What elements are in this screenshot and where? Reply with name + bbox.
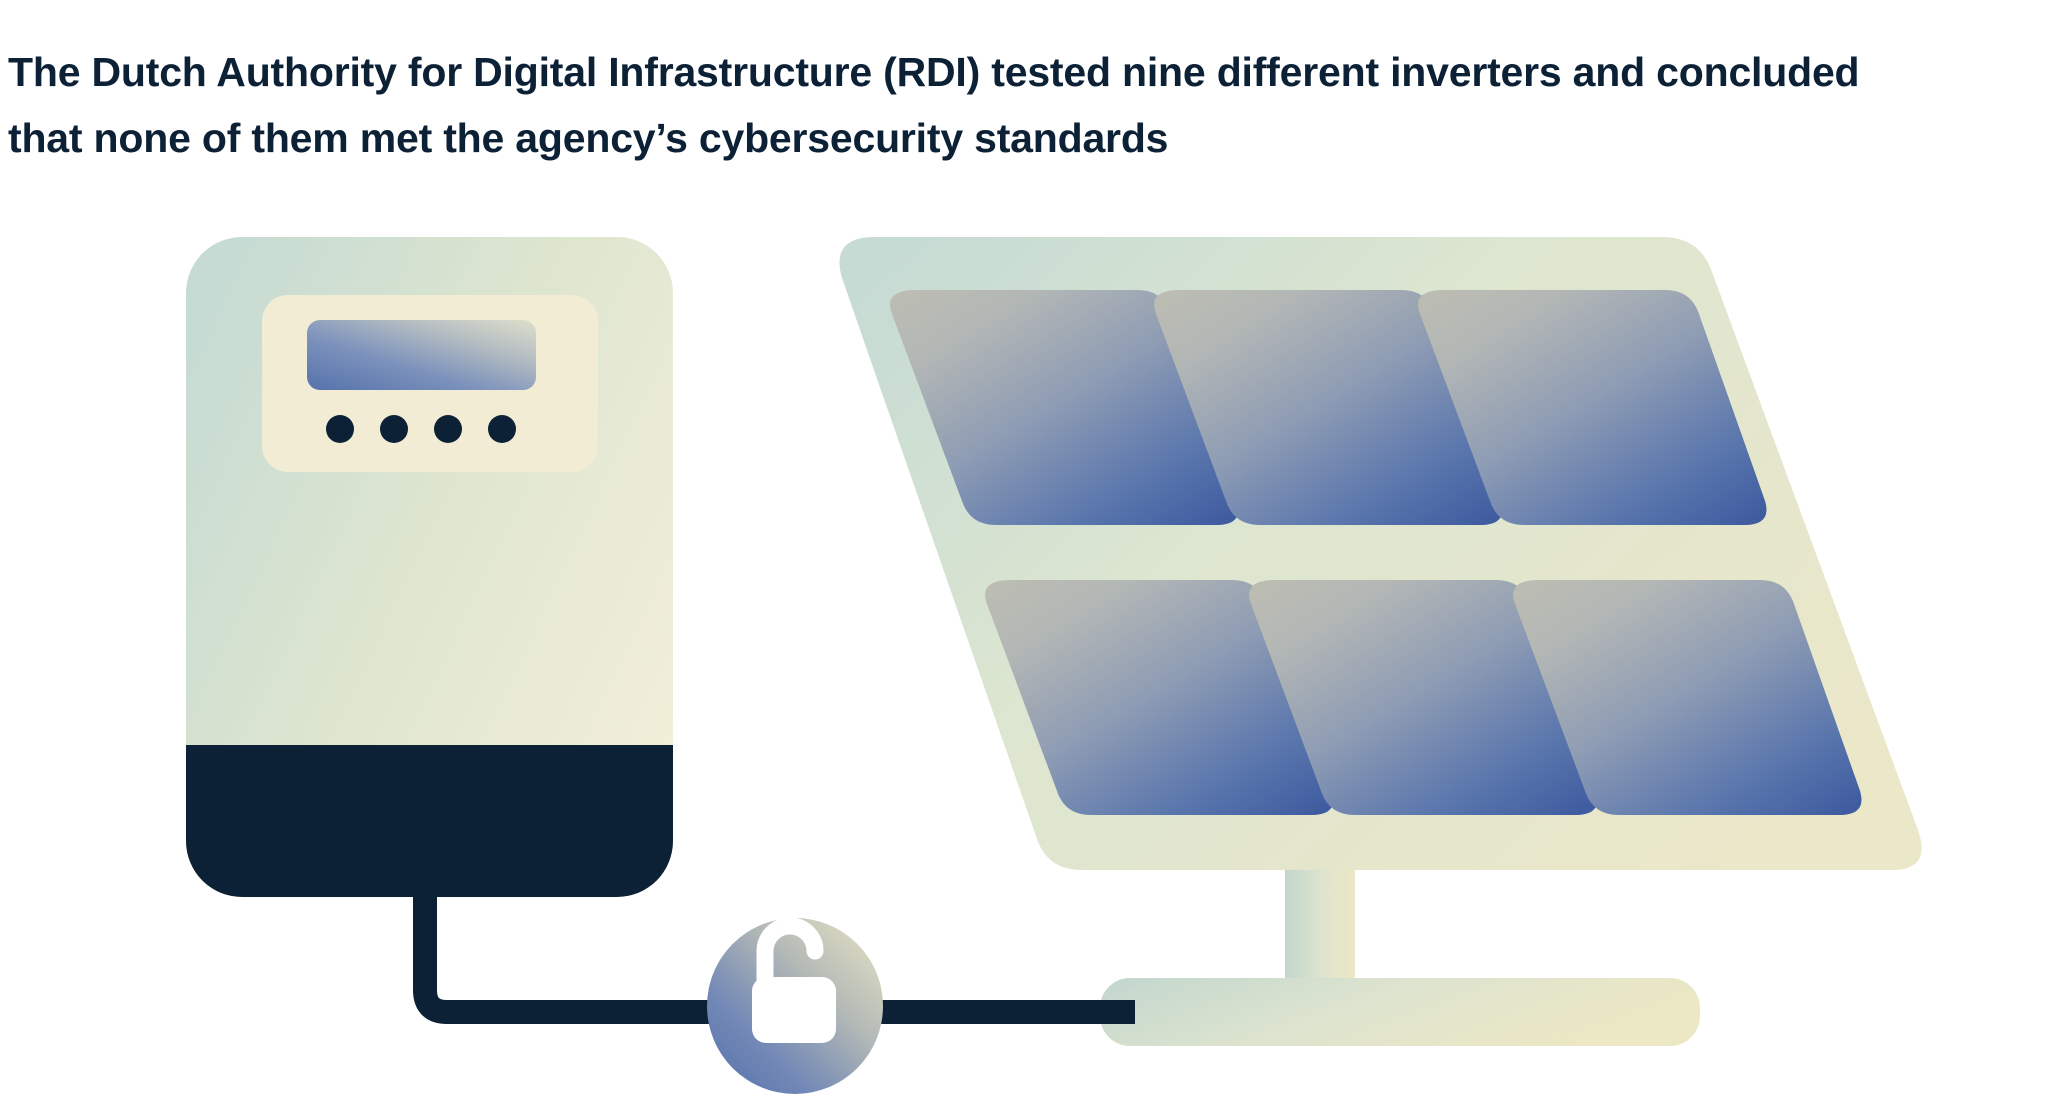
solar-panel <box>839 237 1921 870</box>
solar-cell-row-1 <box>890 290 1766 525</box>
solar-cell-row-2 <box>985 580 1861 815</box>
indicator-light[interactable] <box>434 415 462 443</box>
indicator-light[interactable] <box>380 415 408 443</box>
inverter-solar-illustration <box>0 0 2048 1109</box>
solar-inverter <box>186 237 673 897</box>
inverter-display-screen[interactable] <box>307 320 536 390</box>
page-root: The Dutch Authority for Digital Infrastr… <box>0 0 2048 1109</box>
indicator-light[interactable] <box>326 415 354 443</box>
padlock-body <box>752 977 836 1043</box>
stand-base <box>1100 978 1700 1046</box>
open-padlock-badge[interactable] <box>707 918 883 1094</box>
indicator-light[interactable] <box>488 415 516 443</box>
inverter-base <box>186 745 673 897</box>
solar-panel-stand <box>1100 845 1700 1046</box>
